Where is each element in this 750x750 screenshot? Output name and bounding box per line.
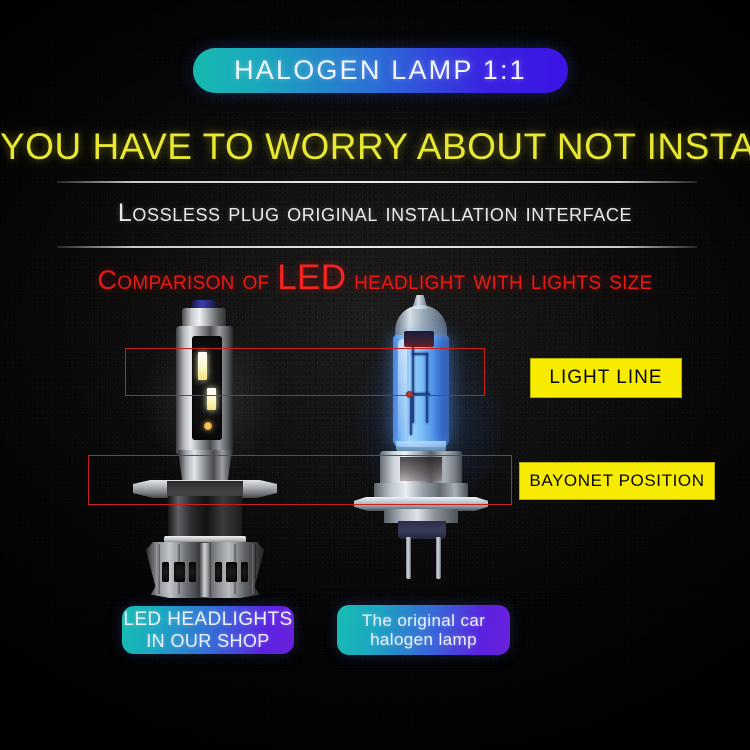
callout-light-line-label: LIGHT LINE <box>549 367 662 389</box>
page-headline: YOU HAVE TO WORRY ABOUT NOT INSTALL? <box>0 126 750 168</box>
halogen-bulb-image <box>340 295 520 600</box>
led-heatsink-vent <box>215 562 222 582</box>
promo-image-canvas: HALOGEN LAMP 1:1 YOU HAVE TO WORRY ABOUT… <box>0 0 750 750</box>
led-bulb-ring <box>164 536 246 543</box>
comparison-caption-emphasis: LED <box>277 258 346 297</box>
bayonet-measure-rect <box>88 455 512 505</box>
callout-bayonet-label: BAYONET POSITION <box>529 471 704 491</box>
led-heatsink-vent <box>189 562 196 582</box>
led-heatsink-vent <box>226 562 237 582</box>
halogen-terminal-prong <box>436 537 441 579</box>
comparison-caption-prefix: Comparison of <box>97 265 277 295</box>
comparison-caption-suffix: headlight with lights size <box>346 265 652 295</box>
divider-bottom <box>57 246 697 248</box>
label-original-halogen: The original car halogen lamp <box>337 605 510 655</box>
led-heatsink-vent <box>241 562 248 582</box>
page-subtitle: Lossless plug original installation inte… <box>0 199 750 228</box>
label-led-headlights: LED HEADLIGHTS IN OUR SHOP <box>122 606 294 654</box>
header-banner: HALOGEN LAMP 1:1 <box>193 48 568 93</box>
led-emitter-dot <box>204 422 212 430</box>
halogen-filament-wire <box>410 395 412 435</box>
callout-bayonet-position: BAYONET POSITION <box>519 462 715 500</box>
led-bulb-image <box>120 300 300 600</box>
callout-light-line: LIGHT LINE <box>530 358 682 398</box>
comparison-caption: Comparison of LED headlight with lights … <box>0 258 750 298</box>
label-led-line1: LED HEADLIGHTS <box>123 609 292 630</box>
led-heatsink-vent <box>174 562 185 582</box>
led-heatsink-fin <box>252 544 256 594</box>
divider-top <box>57 181 697 183</box>
halogen-bulb-tip-cap <box>404 331 434 347</box>
led-heatsink-vent <box>162 562 169 582</box>
light-line-measure-rect <box>125 348 485 396</box>
led-heatsink-center-rib <box>200 543 211 597</box>
halogen-terminal-prong <box>406 537 411 579</box>
led-heatsink-fin <box>156 544 160 594</box>
label-halogen-line2: halogen lamp <box>370 630 477 649</box>
label-led-line2: IN OUR SHOP <box>146 631 269 651</box>
header-banner-title: HALOGEN LAMP 1:1 <box>234 55 527 86</box>
label-halogen-line1: The original car <box>362 611 486 630</box>
